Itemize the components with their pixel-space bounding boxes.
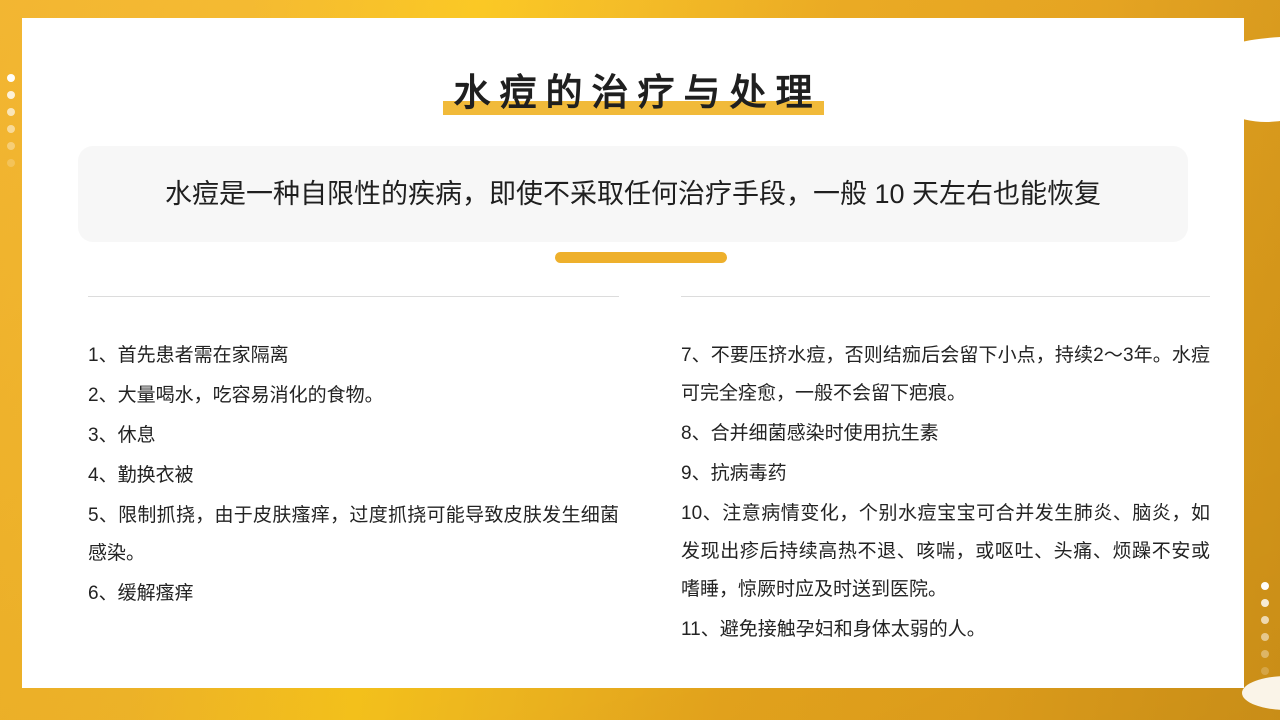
list-item: 10、注意病情变化，个别水痘宝宝可合并发生肺炎、脑炎，如发现出疹后持续高热不退、… <box>681 495 1210 609</box>
column-left-divider <box>88 296 619 297</box>
column-right: 7、不要压挤水痘，否则结痂后会留下小点，持续2～3年。水痘可完全痊愈，一般不会留… <box>633 296 1244 651</box>
list-right: 7、不要压挤水痘，否则结痂后会留下小点，持续2～3年。水痘可完全痊愈，一般不会留… <box>681 337 1210 649</box>
list-item: 8、合并细菌感染时使用抗生素 <box>681 415 1210 453</box>
list-item: 1、首先患者需在家隔离 <box>88 337 619 375</box>
list-item: 6、缓解瘙痒 <box>88 575 619 613</box>
column-left: 1、首先患者需在家隔离 2、大量喝水，吃容易消化的食物。 3、休息 4、勤换衣被… <box>22 296 633 651</box>
list-item: 4、勤换衣被 <box>88 457 619 495</box>
column-right-divider <box>681 296 1210 297</box>
list-item: 11、避免接触孕妇和身体太弱的人。 <box>681 611 1210 649</box>
subtitle-panel: 水痘是一种自限性的疾病，即使不采取任何治疗手段，一般 10 天左右也能恢复 <box>78 146 1188 242</box>
list-left: 1、首先患者需在家隔离 2、大量喝水，吃容易消化的食物。 3、休息 4、勤换衣被… <box>88 337 619 613</box>
list-item: 5、限制抓挠，由于皮肤瘙痒，过度抓挠可能导致皮肤发生细菌感染。 <box>88 497 619 573</box>
list-item: 3、休息 <box>88 417 619 455</box>
title-container: 水痘的治疗与处理 <box>22 44 1244 142</box>
list-item: 7、不要压挤水痘，否则结痂后会留下小点，持续2～3年。水痘可完全痊愈，一般不会留… <box>681 337 1210 413</box>
slide-root: 水痘的治疗与处理 水痘是一种自限性的疾病，即使不采取任何治疗手段，一般 10 天… <box>0 0 1280 720</box>
list-item: 9、抗病毒药 <box>681 455 1210 493</box>
accent-bar <box>555 252 727 263</box>
content-card: 水痘的治疗与处理 水痘是一种自限性的疾病，即使不采取任何治疗手段，一般 10 天… <box>22 18 1244 688</box>
list-item: 2、大量喝水，吃容易消化的食物。 <box>88 377 619 415</box>
page-title-text: 水痘的治疗与处理 <box>454 72 822 113</box>
columns-container: 1、首先患者需在家隔离 2、大量喝水，吃容易消化的食物。 3、休息 4、勤换衣被… <box>22 296 1244 651</box>
subtitle-text: 水痘是一种自限性的疾病，即使不采取任何治疗手段，一般 10 天左右也能恢复 <box>165 173 1101 215</box>
page-title: 水痘的治疗与处理 <box>441 69 826 117</box>
